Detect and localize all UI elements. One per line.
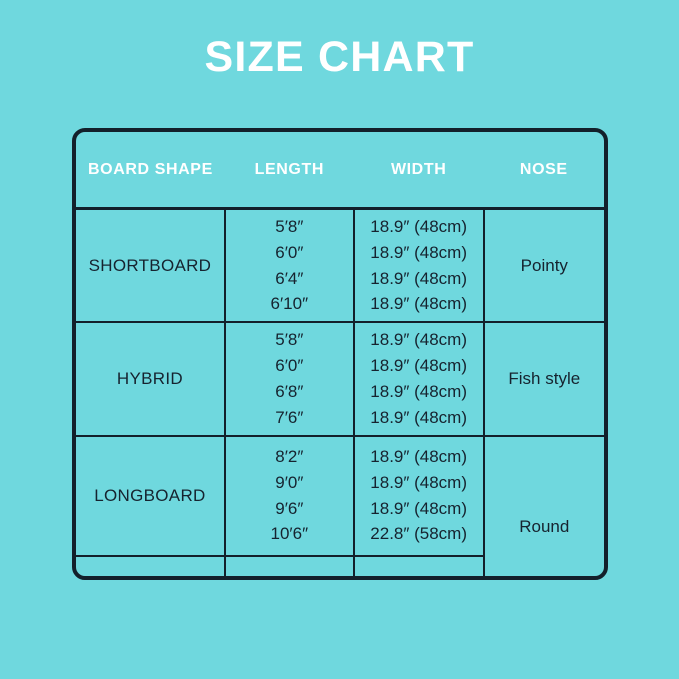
length-value: 8′2″	[226, 444, 353, 470]
width-value: 22.8″ (58cm)	[355, 521, 483, 547]
width-value: 18.9″ (48cm)	[355, 353, 483, 379]
cell-nose-merged: Round	[484, 436, 604, 580]
table-body: SHORTBOARD 5′8″ 6′0″ 6′4″ 6′10″ 18.9″ (4…	[76, 209, 604, 581]
size-chart-table-container: BOARD SHAPE LENGTH WIDTH NOSE SHORTBOARD…	[72, 128, 608, 580]
table-row: LONGBOARD 8′2″ 9′0″ 9′6″ 10′6″ 18.9″ (48…	[76, 436, 604, 556]
column-header-width: WIDTH	[354, 132, 484, 209]
length-value: 6′10″	[226, 291, 353, 317]
column-header-nose: NOSE	[484, 132, 604, 209]
cell-width: 18.9″ (48cm) 18.9″ (48cm) 18.9″ (48cm) 1…	[354, 322, 484, 435]
width-value: 18.9″ (48cm)	[355, 214, 483, 240]
header-row: BOARD SHAPE LENGTH WIDTH NOSE	[76, 132, 604, 209]
width-value: 18.9″ (48cm)	[355, 405, 483, 431]
width-value: 18.9″ (48cm)	[355, 240, 483, 266]
width-value: 18.9″ (48cm)	[355, 266, 483, 292]
cell-width: 18.9″ (48cm) 18.9″ (48cm) 18.9″ (48cm) 1…	[354, 209, 484, 323]
length-value: 9′6″	[226, 496, 353, 522]
width-value: 18.9″ (48cm)	[355, 327, 483, 353]
size-chart-page: SIZE CHART BOARD SHAPE LENGTH WIDTH NOSE…	[0, 0, 679, 679]
table-row: SHORTBOARD 5′8″ 6′0″ 6′4″ 6′10″ 18.9″ (4…	[76, 209, 604, 323]
length-value: 5′8″	[226, 327, 353, 353]
length-value: 6′0″	[226, 240, 353, 266]
cell-length: 5′8″ 6′0″ 6′4″ 6′10″	[225, 209, 354, 323]
table-row: HYBRID 5′8″ 6′0″ 6′8″ 7′6″ 18.9″ (48cm) …	[76, 322, 604, 435]
column-header-length: LENGTH	[225, 132, 354, 209]
cell-board-shape: SUP	[76, 556, 225, 580]
width-value: 18.9″ (48cm)	[355, 470, 483, 496]
length-value: 6′0″	[226, 353, 353, 379]
column-header-board-shape: BOARD SHAPE	[76, 132, 225, 209]
length-value: 6′4″	[226, 266, 353, 292]
width-value: 18.9″ (48cm)	[355, 291, 483, 317]
size-chart-table: BOARD SHAPE LENGTH WIDTH NOSE SHORTBOARD…	[76, 132, 604, 580]
cell-length: 5′8″ 6′0″ 6′8″ 7′6″	[225, 322, 354, 435]
length-value: 10′6″	[226, 521, 353, 547]
width-value: 18.9″ (48cm)	[355, 444, 483, 470]
width-value: 18.9″ (48cm)	[355, 496, 483, 522]
cell-length: 10′6″	[225, 556, 354, 580]
cell-board-shape: LONGBOARD	[76, 436, 225, 556]
cell-board-shape: HYBRID	[76, 322, 225, 435]
length-value: 7′6″	[226, 405, 353, 431]
cell-nose: Fish style	[484, 322, 604, 435]
cell-nose: Pointy	[484, 209, 604, 323]
length-value: 9′0″	[226, 470, 353, 496]
cell-length: 8′2″ 9′0″ 9′6″ 10′6″	[225, 436, 354, 556]
length-value: 6′8″	[226, 379, 353, 405]
table-header: BOARD SHAPE LENGTH WIDTH NOSE	[76, 132, 604, 209]
cell-width: 30″ (76cm)	[354, 556, 484, 580]
cell-width: 18.9″ (48cm) 18.9″ (48cm) 18.9″ (48cm) 2…	[354, 436, 484, 556]
cell-board-shape: SHORTBOARD	[76, 209, 225, 323]
width-value: 18.9″ (48cm)	[355, 379, 483, 405]
page-title: SIZE CHART	[0, 34, 679, 81]
length-value: 5′8″	[226, 214, 353, 240]
